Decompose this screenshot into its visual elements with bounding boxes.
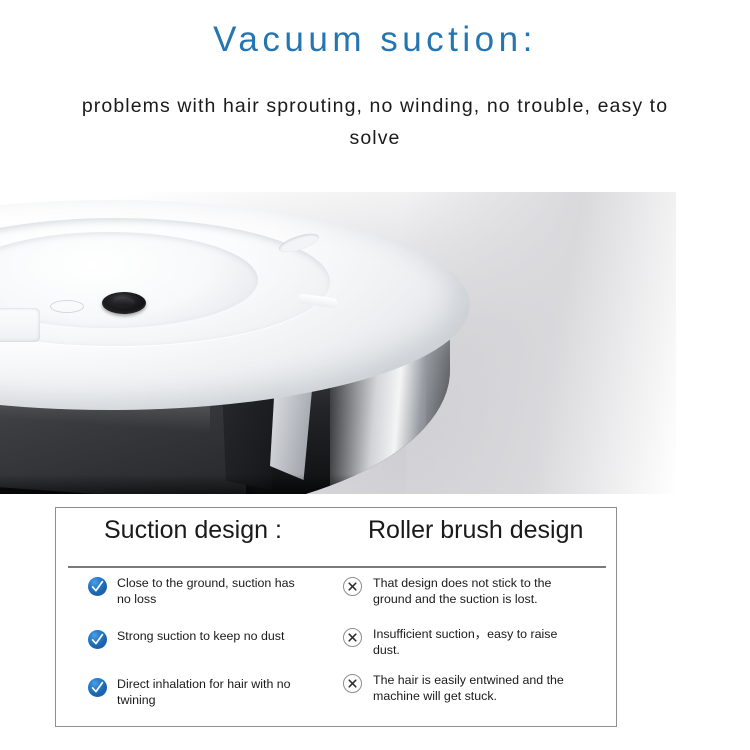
check-circle-icon xyxy=(88,678,107,697)
list-item: Strong suction to keep no dust xyxy=(88,629,331,649)
list-item-label: Direct inhalation for hair with no twini… xyxy=(117,677,303,708)
header-divider xyxy=(68,566,606,568)
list-item: Direct inhalation for hair with no twini… xyxy=(88,677,331,708)
x-circle-icon xyxy=(343,577,362,596)
x-circle-icon xyxy=(343,628,362,647)
list-item-label: Strong suction to keep no dust xyxy=(117,629,303,645)
x-circle-icon xyxy=(343,674,362,693)
comparison-columns: Close to the ground, suction has no loss… xyxy=(56,576,618,708)
list-item-label: Close to the ground, suction has no loss xyxy=(117,576,303,607)
product-feature-page: Vacuum suction: problems with hair sprou… xyxy=(0,0,750,750)
power-button-icon xyxy=(102,292,146,314)
comparison-table: Suction design : Roller brush design Clo… xyxy=(55,507,617,727)
check-circle-icon xyxy=(88,577,107,596)
list-item-label: Insufficient suction，easy to raise dust. xyxy=(373,627,585,658)
comparison-header-row: Suction design : Roller brush design xyxy=(56,508,616,558)
floor-shadow xyxy=(0,474,450,494)
product-image xyxy=(0,192,676,494)
list-item: Insufficient suction，easy to raise dust. xyxy=(343,627,612,658)
list-item-label: That design does not stick to the ground… xyxy=(373,576,585,607)
sensor-tab xyxy=(0,308,40,342)
list-item-label: The hair is easily entwined and the mach… xyxy=(373,673,585,704)
list-item: The hair is easily entwined and the mach… xyxy=(343,673,612,704)
list-item: Close to the ground, suction has no loss xyxy=(88,576,331,607)
list-item: That design does not stick to the ground… xyxy=(343,576,612,607)
column-header-roller-brush-design: Roller brush design xyxy=(368,516,583,545)
page-title: Vacuum suction: xyxy=(0,20,750,60)
lid-marking xyxy=(50,300,84,313)
column-suction-design: Close to the ground, suction has no loss… xyxy=(56,576,337,708)
check-circle-icon xyxy=(88,630,107,649)
column-header-suction-design: Suction design : xyxy=(104,516,282,545)
robot-vacuum-illustration xyxy=(0,200,470,494)
page-subtitle: problems with hair sprouting, no winding… xyxy=(75,90,675,154)
column-roller-brush-design: That design does not stick to the ground… xyxy=(337,576,618,708)
